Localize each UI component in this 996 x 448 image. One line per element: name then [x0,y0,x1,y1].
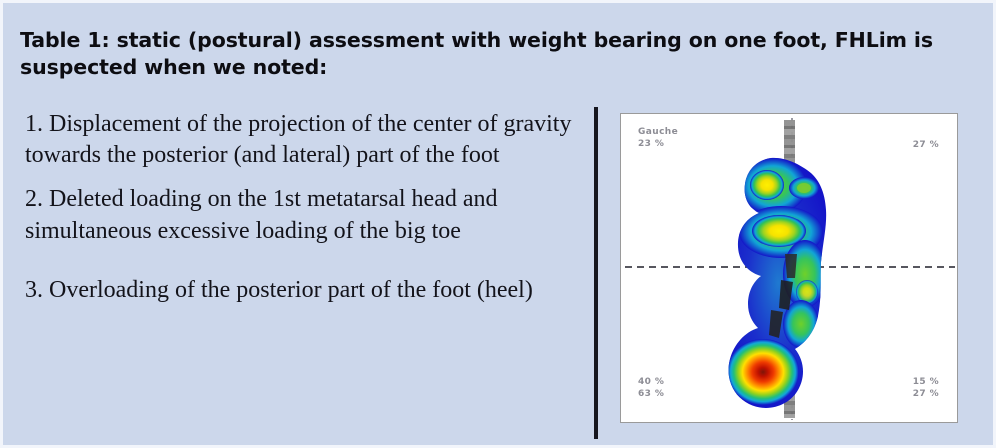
plantar-pressure-heatmap [621,114,958,423]
plate-value-bottom-right-1: 15 % [913,376,939,388]
list-item: 2. Deleted loading on the 1st metatarsal… [25,184,577,246]
plate-label-bottom-right: 15 % 27 % [913,376,939,400]
plate-label-top-right: 27 % [913,139,939,151]
heatmap-description: Plantar pressure distribution map of a l… [3,3,4,4]
list-item: 1. Displacement of the projection of the… [25,109,577,171]
figure-caption: Table 1: static (postural) assessment wi… [20,27,950,82]
table-figure-container: Table 1: static (postural) assessment wi… [0,0,996,448]
plate-side-label: Gauche [638,126,678,138]
column-divider [594,107,598,439]
plate-label-bottom-left: 40 % 63 % [638,376,664,400]
plate-value-top-right: 27 % [913,139,939,151]
page-title: Table 1: static (postural) assessment wi… [20,27,950,82]
findings-list: 1. Displacement of the projection of the… [25,109,577,306]
plate-value-bottom-left-2: 63 % [638,388,664,400]
plate-value-bottom-left-1: 40 % [638,376,664,388]
plate-value-top-left: 23 % [638,138,678,150]
pressure-plate-panel: Gauche 23 % 27 % 40 % 63 % 15 % 27 % [620,113,958,423]
list-item: 3. Overloading of the posterior part of … [25,275,577,306]
plate-value-bottom-right-2: 27 % [913,388,939,400]
plate-label-top-left: Gauche 23 % [638,126,678,150]
